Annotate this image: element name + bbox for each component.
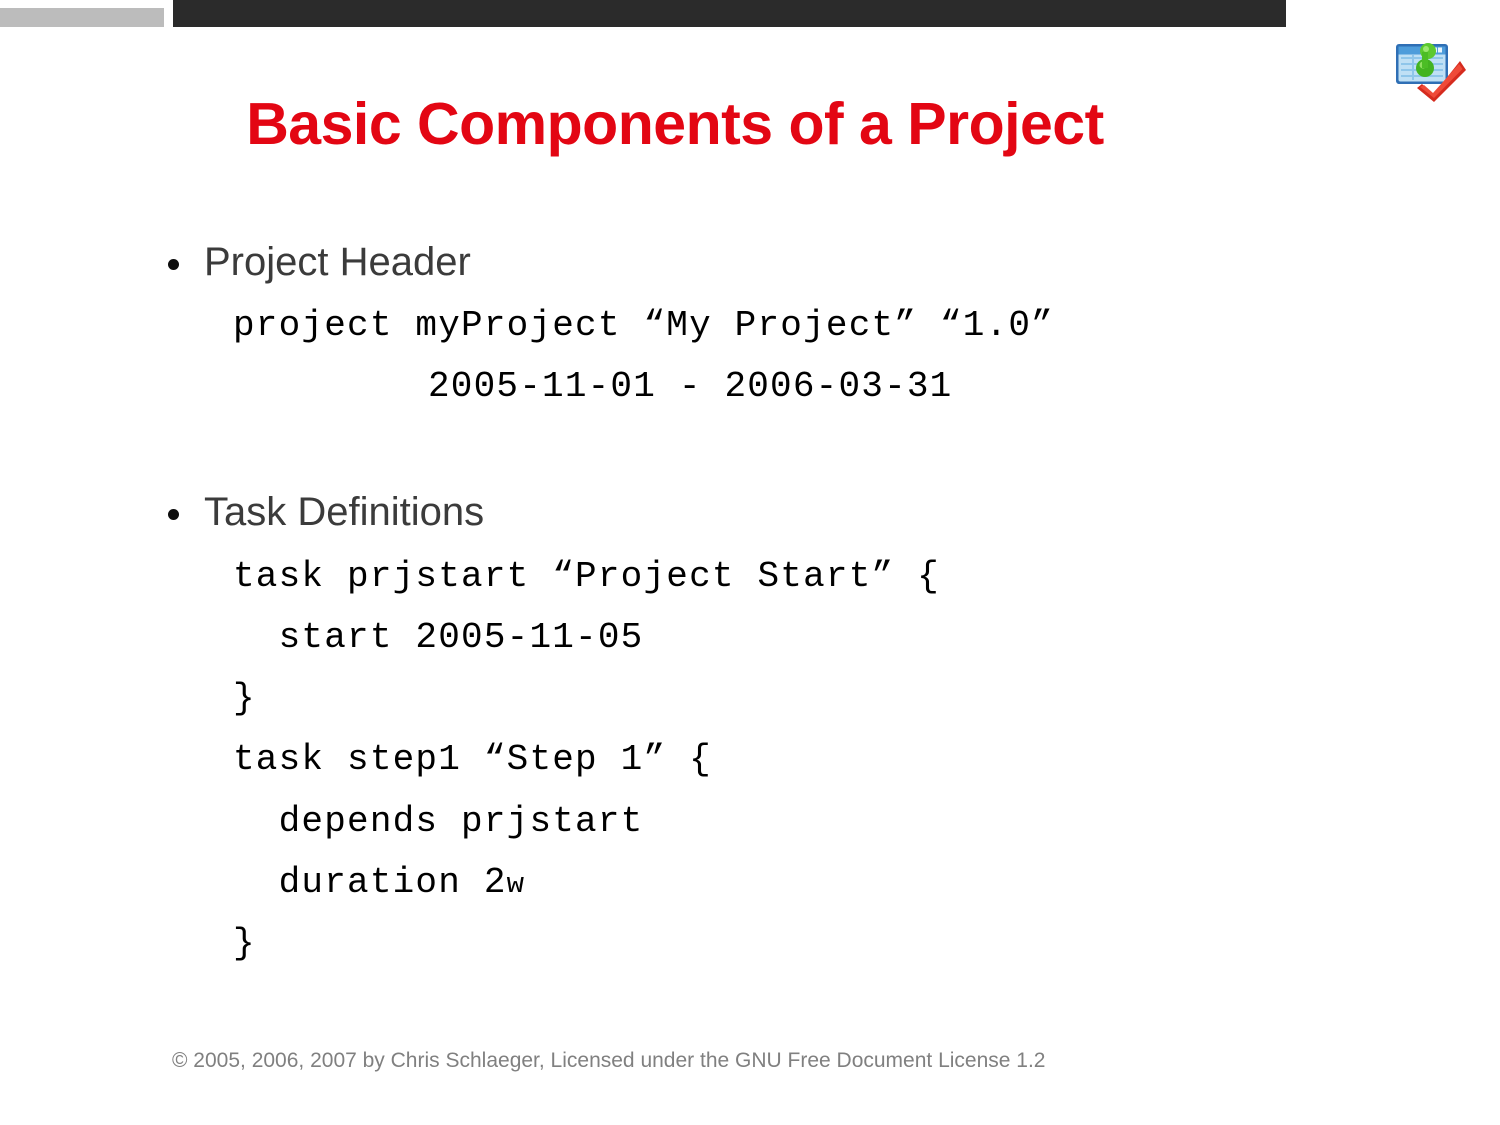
code-line: duration 2w	[233, 863, 525, 905]
code-line: depends prjstart	[233, 802, 643, 842]
bullet-item-task-definitions: Task Definitions	[204, 489, 484, 535]
bullet-dot-icon	[168, 509, 179, 520]
code-line: }	[233, 679, 256, 719]
bullet-dot-icon	[168, 259, 179, 270]
slide-content: Project Header project myProject “My Pro…	[0, 0, 1500, 1125]
copyright-footer: © 2005, 2006, 2007 by Chris Schlaeger, L…	[172, 1048, 1046, 1074]
code-line-unit: w	[507, 868, 526, 901]
bullet-item-project-header: Project Header	[204, 239, 471, 285]
code-line: project myProject “My Project” “1.0”	[233, 306, 1054, 346]
code-line: 2005-11-01 - 2006-03-31	[428, 367, 952, 407]
code-line: task prjstart “Project Start” {	[233, 557, 940, 597]
presentation-slide: Basic Components of a Project Project He…	[0, 0, 1500, 1125]
code-line: task step1 “Step 1” {	[233, 740, 712, 780]
code-line-text: duration 2	[233, 862, 507, 903]
code-line: start 2005-11-05	[233, 618, 643, 658]
code-line: }	[233, 924, 256, 964]
